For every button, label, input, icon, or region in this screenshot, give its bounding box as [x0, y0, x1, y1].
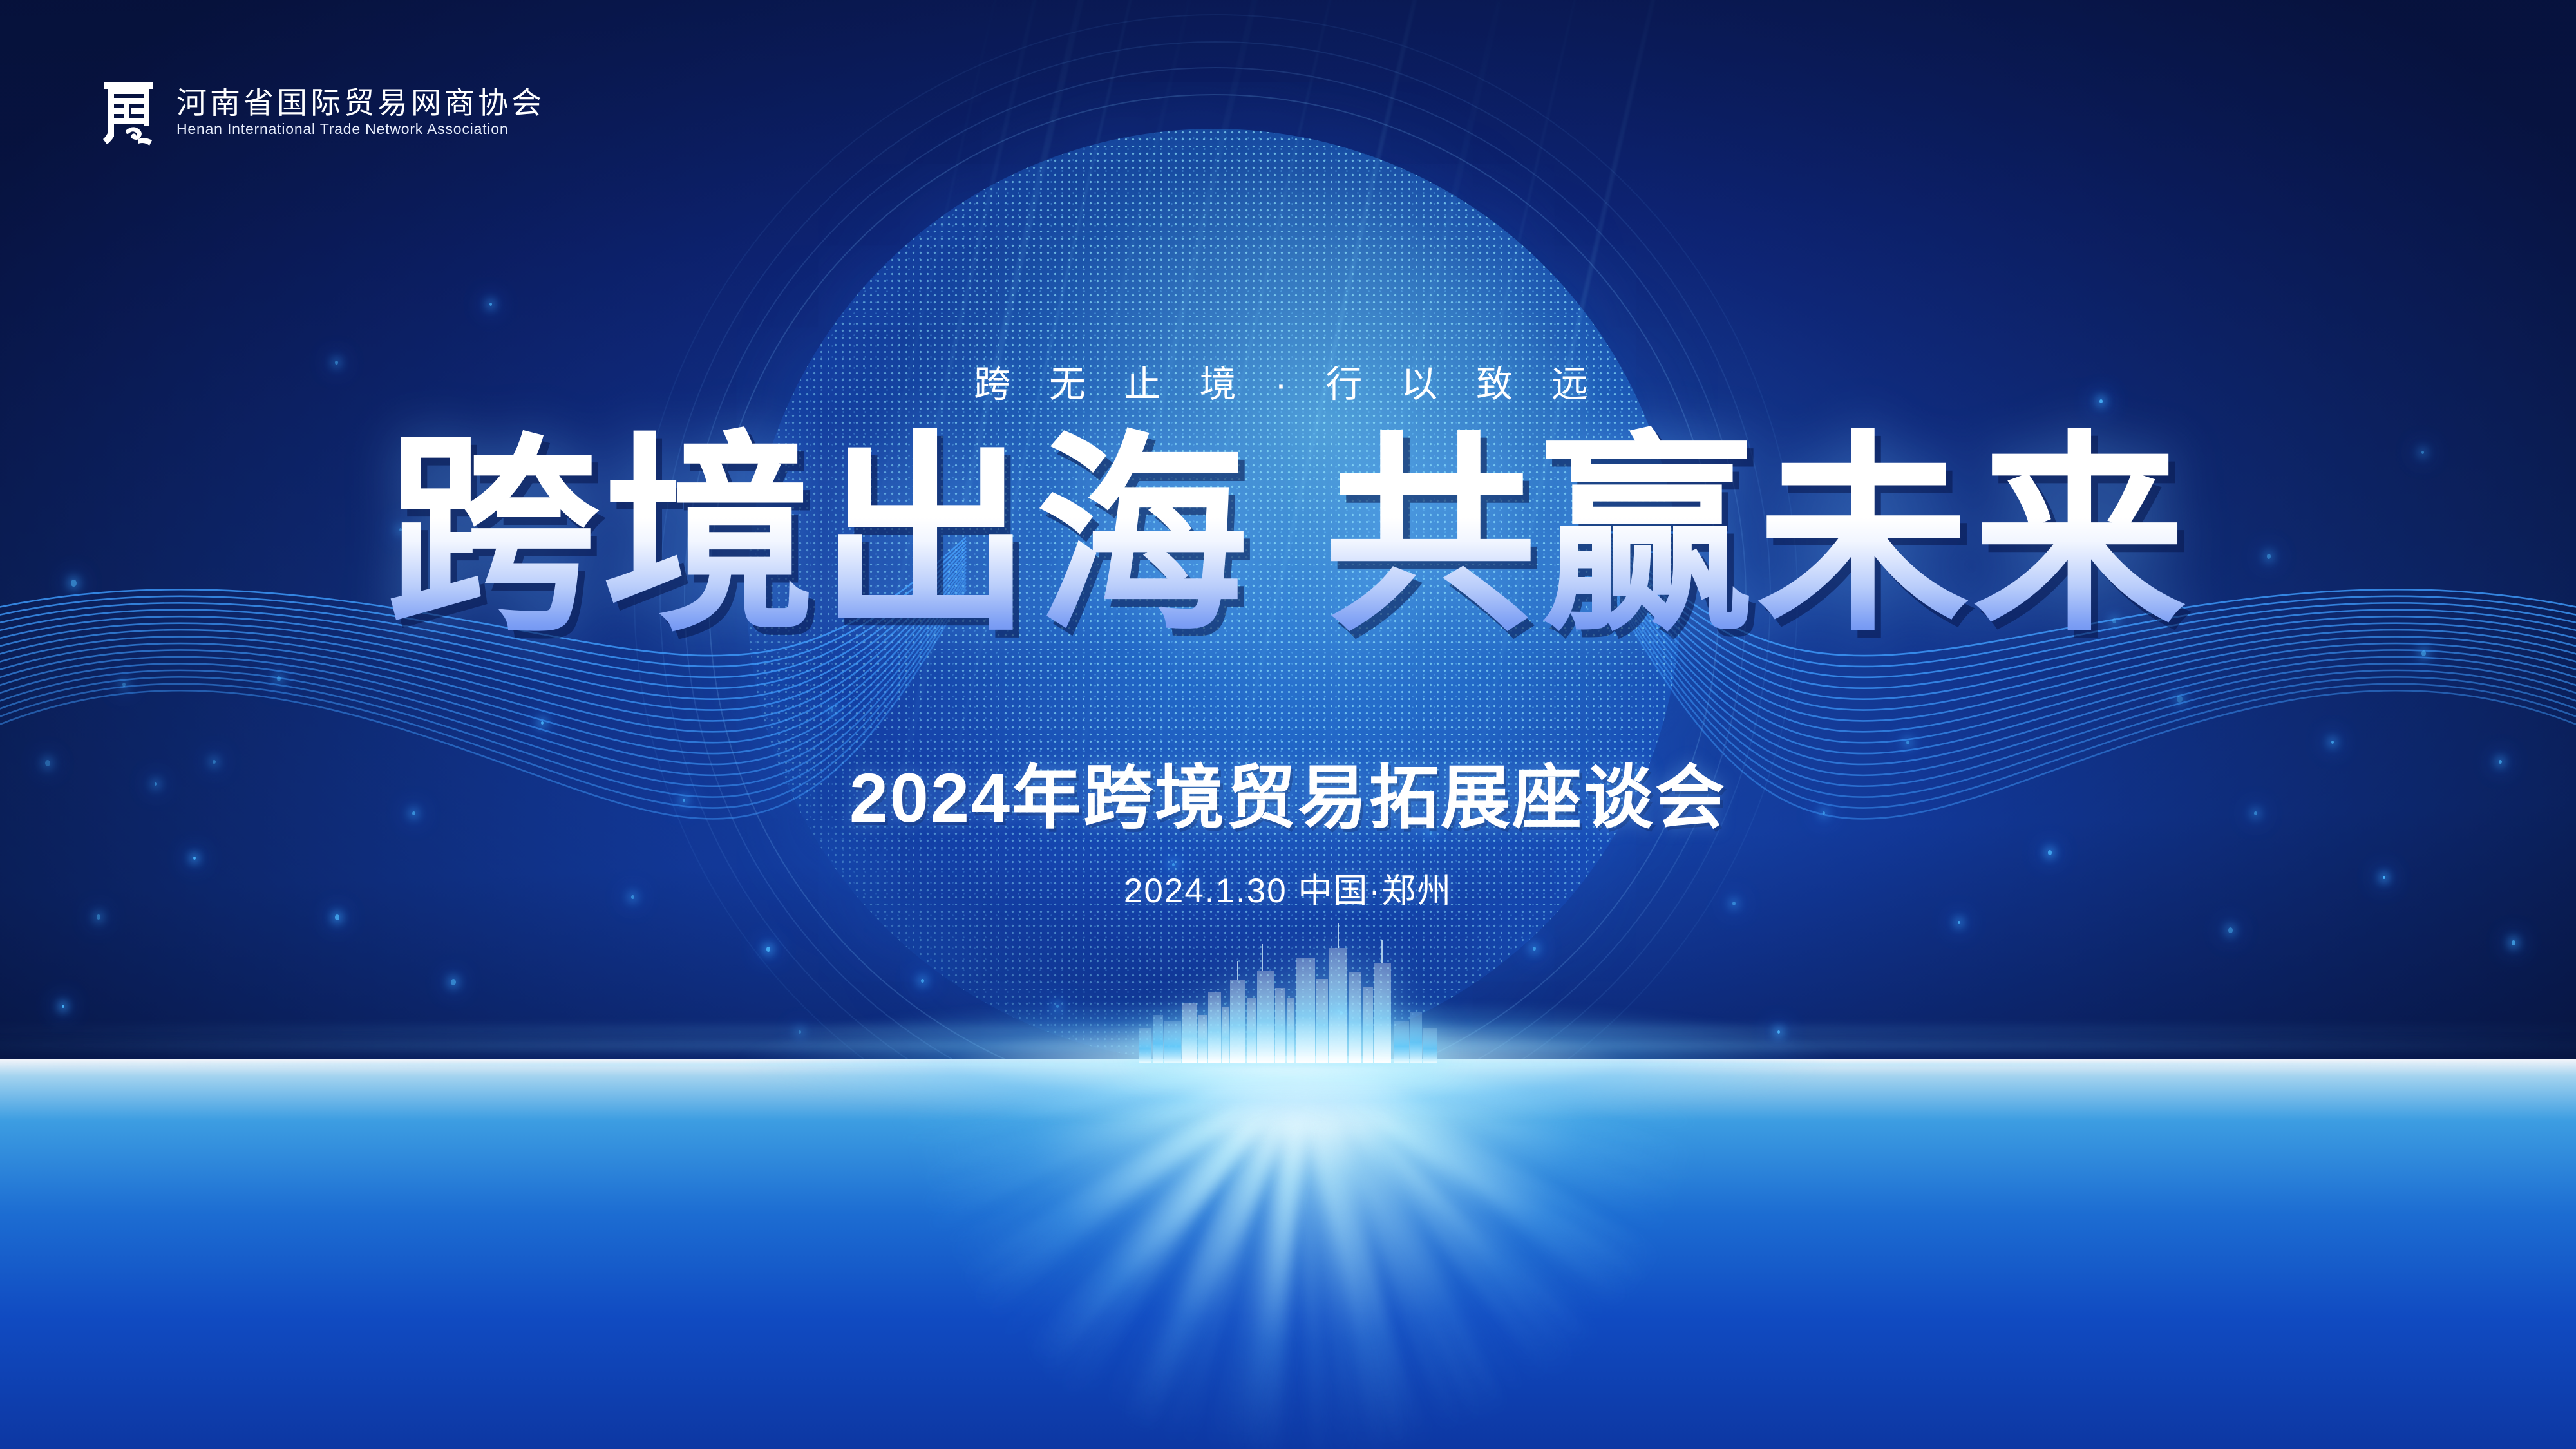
main-title-part-1: 跨境出海 — [386, 422, 1252, 651]
main-title-part-2-group: 共赢未来 — [1324, 422, 2190, 651]
event-date-location: 2024.1.30 中国·郑州 — [0, 864, 2576, 913]
horizon-line — [0, 1063, 2576, 1066]
seal-script-emblem-icon — [98, 76, 160, 148]
main-title: 跨境出海 共赢未来 — [0, 422, 2576, 651]
poster-canvas: 河南省国际贸易网商协会 Henan International Trade Ne… — [0, 0, 2576, 1449]
event-subtitle: 2024年跨境贸易拓展座谈会 — [0, 742, 2576, 842]
logo-english-name: Henan International Trade Network Associ… — [176, 122, 545, 137]
logo-chinese-name: 河南省国际贸易网商协会 — [176, 88, 545, 118]
main-title-part-2: 共赢未来 — [1324, 422, 2190, 651]
main-title-part-1-group: 跨境出海 — [386, 422, 1252, 651]
logo-text-block: 河南省国际贸易网商协会 Henan International Trade Ne… — [176, 88, 545, 137]
tagline: 跨 无 止 境 · 行 以 致 远 — [0, 355, 2576, 408]
association-logo[interactable]: 河南省国际贸易网商协会 Henan International Trade Ne… — [98, 76, 545, 148]
city-skyline — [1133, 902, 1443, 1063]
